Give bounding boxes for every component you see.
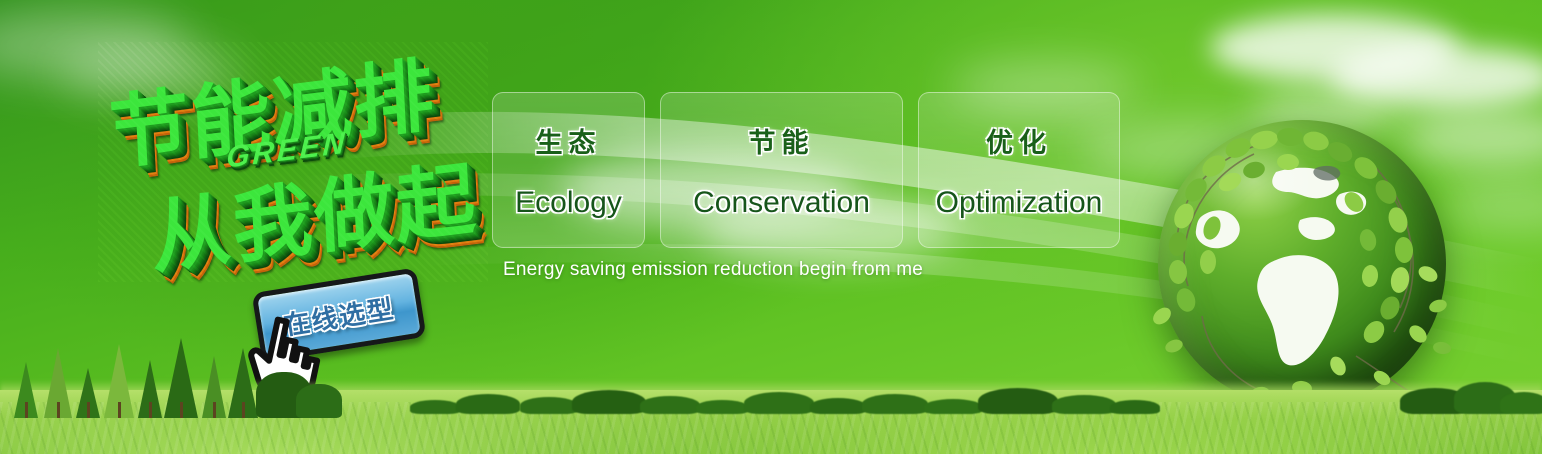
globe-specular-highlight [1194,142,1314,220]
feature-card-cn-label: 生态 [536,121,602,160]
feature-cards: 生态 Ecology 节能 Conservation 优化 Optimizati… [492,92,1120,248]
feature-card-cn-label: 优化 [986,121,1052,160]
globe-sphere [1158,120,1446,408]
banner-tagline: Energy saving emission reduction begin f… [503,259,923,281]
feature-card-en-label: Ecology [515,186,622,220]
cloud-icon [1210,14,1460,82]
cloud-icon [1330,46,1542,108]
feature-card-cn-label: 节能 [749,121,815,160]
hero-title-art: 节能减排 从我做起 GREEN [98,42,488,282]
green-hero-banner: 节能减排 从我做起 GREEN 在线选型 生态 Ecology 节能 Conse… [0,0,1542,454]
grass-field-icon [0,390,1542,454]
feature-card-optimization[interactable]: 优化 Optimization [918,92,1120,248]
grass-texture [0,402,1542,454]
online-selection-cta[interactable]: 在线选型 [256,272,426,362]
feature-card-en-label: Conservation [693,186,870,220]
feature-card-ecology[interactable]: 生态 Ecology [492,92,645,248]
feature-card-en-label: Optimization [936,186,1103,220]
feature-card-conservation[interactable]: 节能 Conservation [660,92,903,248]
